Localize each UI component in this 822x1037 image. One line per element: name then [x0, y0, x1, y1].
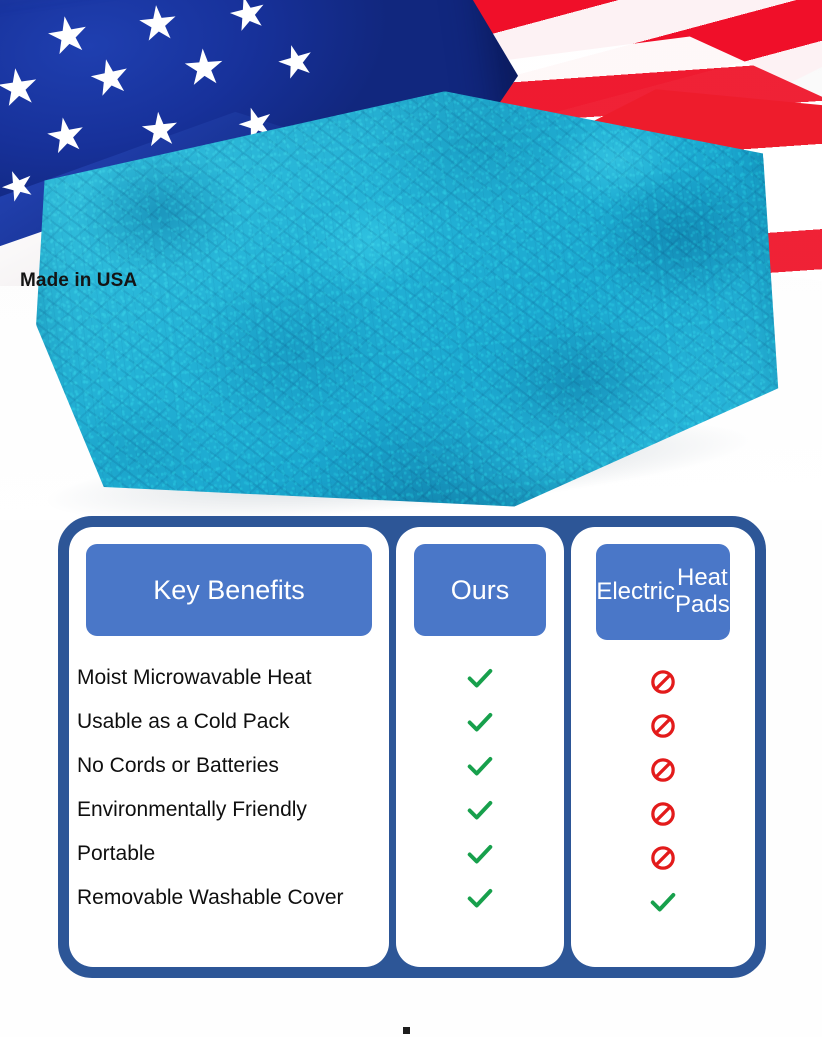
red-prohibition-icon [650, 845, 676, 871]
table-row: Usable as a Cold Pack [77, 700, 397, 744]
table-row: Environmentally Friendly [77, 788, 397, 832]
table-row: Portable [77, 832, 397, 876]
red-prohibition-icon [650, 757, 676, 783]
column-header-benefits: Key Benefits [86, 544, 372, 636]
table-row [571, 704, 755, 748]
green-check-icon [465, 707, 495, 737]
column-header-electric: Electric Heat Pads [596, 544, 730, 640]
comparison-column-ours: Ours [396, 527, 564, 967]
table-row [396, 656, 564, 700]
green-check-icon [465, 663, 495, 693]
green-check-icon [465, 839, 495, 869]
table-row [571, 836, 755, 880]
table-row [571, 660, 755, 704]
column-header-ours: Ours [414, 544, 546, 636]
electric-value-list [571, 660, 755, 924]
table-row [571, 792, 755, 836]
product-hero-image: Made in USA [0, 0, 822, 520]
table-row [396, 832, 564, 876]
table-row [571, 748, 755, 792]
red-prohibition-icon [650, 801, 676, 827]
table-row: Moist Microwavable Heat [77, 656, 397, 700]
table-row [571, 880, 755, 924]
green-check-icon [648, 887, 678, 917]
red-prohibition-icon [650, 669, 676, 695]
ours-value-list [396, 656, 564, 920]
comparison-table: Key Benefits Moist Microwavable Heat Usa… [58, 516, 766, 978]
green-check-icon [465, 795, 495, 825]
made-in-usa-badge: Made in USA [20, 270, 137, 292]
column-header-electric-line1: Electric [596, 579, 675, 606]
table-row: Removable Washable Cover [77, 876, 397, 920]
green-check-icon [465, 883, 495, 913]
table-row: No Cords or Batteries [77, 744, 397, 788]
table-row [396, 788, 564, 832]
table-row [396, 700, 564, 744]
page-artifact-mark [403, 1027, 410, 1034]
table-row [396, 876, 564, 920]
table-row [396, 744, 564, 788]
benefit-label-list: Moist Microwavable Heat Usable as a Cold… [61, 656, 397, 920]
comparison-column-electric: Electric Heat Pads [571, 527, 755, 967]
red-prohibition-icon [650, 713, 676, 739]
green-check-icon [465, 751, 495, 781]
comparison-column-benefits: Key Benefits Moist Microwavable Heat Usa… [69, 527, 389, 967]
column-header-electric-line2: Heat Pads [675, 565, 730, 619]
